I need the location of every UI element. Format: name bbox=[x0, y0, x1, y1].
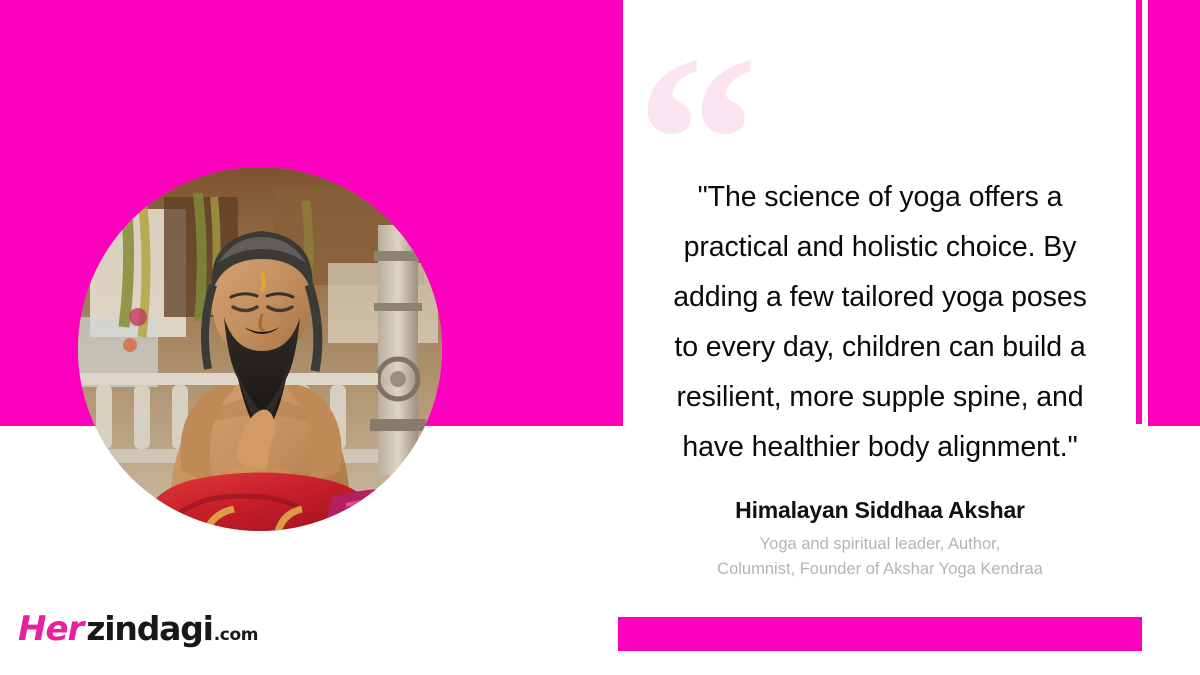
quote-line: have healthier body alignment." bbox=[626, 422, 1134, 472]
portrait-photo bbox=[78, 167, 442, 531]
quote-line: resilient, more supple spine, and bbox=[626, 372, 1134, 422]
quote-line: "The science of yoga offers a bbox=[626, 172, 1134, 222]
decorative-quote-mark-icon: “ bbox=[636, 18, 836, 168]
herzindagi-logo: Her zindagi .com bbox=[18, 612, 258, 656]
logo-com-text: .com bbox=[214, 627, 258, 644]
quote-card: “ "The science of yoga offers a practica… bbox=[0, 0, 1200, 675]
author-name: Himalayan Siddhaa Akshar bbox=[626, 493, 1134, 527]
quote-line: practical and holistic choice. By bbox=[626, 222, 1134, 272]
author-role-line: Columnist, Founder of Akshar Yoga Kendra… bbox=[626, 557, 1134, 582]
right-magenta-accent-block bbox=[1148, 0, 1200, 426]
quote-text: "The science of yoga offers a practical … bbox=[626, 172, 1134, 472]
quote-line: adding a few tailored yoga poses bbox=[626, 272, 1134, 322]
right-thin-accent-line bbox=[1136, 0, 1142, 424]
author-role: Yoga and spiritual leader, Author, Colum… bbox=[626, 532, 1134, 582]
logo-zindagi-text: zindagi bbox=[86, 612, 212, 645]
quote-line: to every day, children can build a bbox=[626, 322, 1134, 372]
attribution-block: Himalayan Siddhaa Akshar Yoga and spirit… bbox=[626, 493, 1134, 582]
bottom-magenta-bar bbox=[618, 617, 1142, 651]
author-role-line: Yoga and spiritual leader, Author, bbox=[626, 532, 1134, 557]
logo-her-text: Her bbox=[18, 612, 83, 646]
